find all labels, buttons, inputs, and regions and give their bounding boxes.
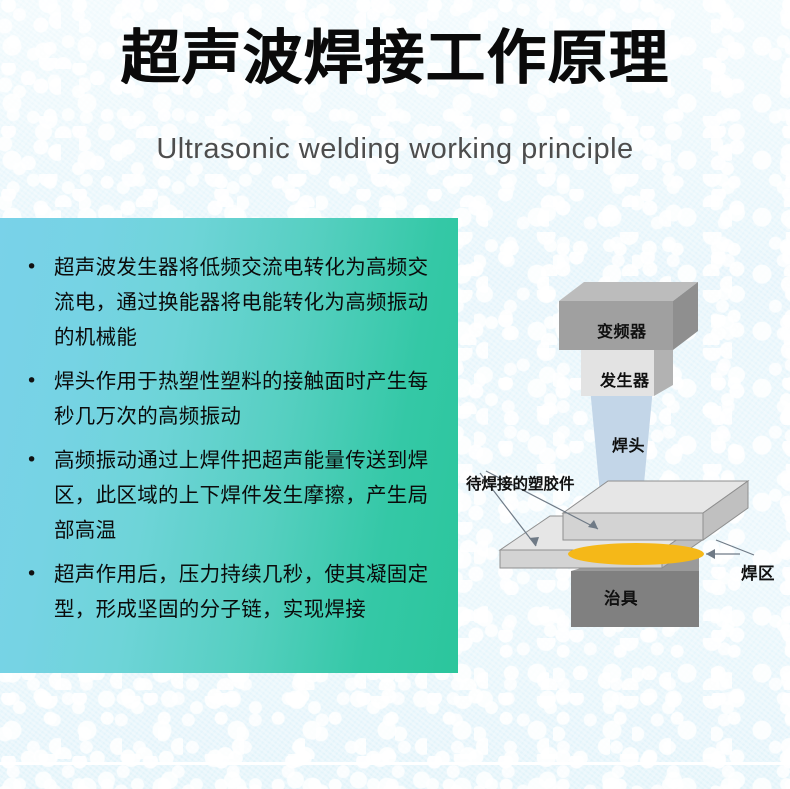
diagram-label-horn: 焊头 [612,432,645,456]
upper-plate-front-face [563,513,703,540]
bottom-divider-line [0,762,790,765]
diagram-label-fixture: 治具 [604,585,638,609]
generator-side-face [654,350,673,396]
header: 超声波焊接工作原理 Ultrasonic welding working pri… [0,0,790,200]
bullet-panel: 超声波发生器将低频交流电转化为高频交流电，通过换能器将电能转化为高频振动的机械能… [0,218,458,673]
bullet-list: 超声波发生器将低频交流电转化为高频交流电，通过换能器将电能转化为高频振动的机械能… [14,250,448,636]
list-item: 超声波发生器将低频交流电转化为高频交流电，通过换能器将电能转化为高频振动的机械能 [14,250,448,355]
diagram-label-generator: 发生器 [600,367,650,391]
diagram-label-weld-zone: 焊区 [741,560,775,584]
page-subtitle: Ultrasonic welding working principle [0,133,790,166]
diagram-label-inverter: 变频器 [597,318,647,342]
weld-zone-spot [568,543,704,565]
list-item: 高频振动通过上焊件把超声能量传送到焊区，此区域的上下焊件发生摩擦，产生局部高温 [14,443,448,548]
list-item: 超声作用后，压力持续几秒，使其凝固定型，形成坚固的分子链，实现焊接 [14,557,448,627]
diagram-label-workpiece: 待焊接的塑胶件 [466,472,575,494]
weldzone-arrowhead [706,549,715,559]
list-item: 焊头作用于热塑性塑料的接触面时产生每秒几万次的高频振动 [14,364,448,434]
page-title: 超声波焊接工作原理 [0,26,790,91]
